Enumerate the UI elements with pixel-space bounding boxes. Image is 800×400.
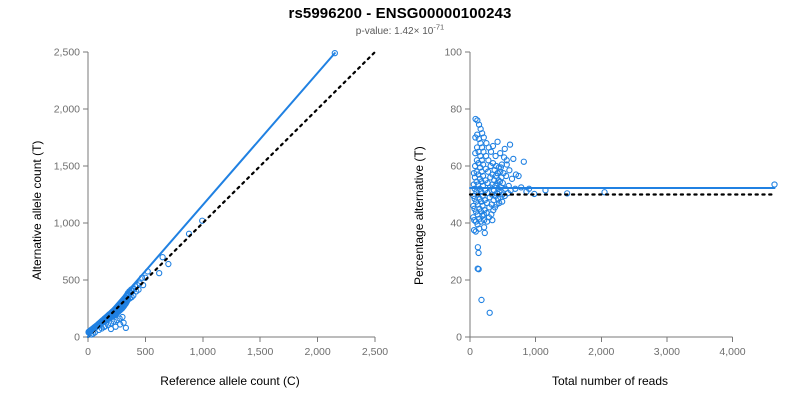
data-point-group [471, 116, 777, 315]
x-tick-label: 1,000 [522, 346, 548, 358]
data-point [166, 261, 171, 266]
reference-line [88, 52, 375, 337]
y-tick-label: 0 [74, 332, 80, 344]
y-tick-label: 2,000 [54, 104, 80, 116]
data-point [521, 159, 526, 164]
data-point [157, 271, 162, 276]
figure-root: rs5996200 - ENSG00000100243 p-value: 1.4… [0, 0, 800, 400]
y-axis-title-left: Alternative allele count (T) [30, 141, 44, 280]
x-tick-label: 500 [137, 346, 155, 358]
y-axis-title-right: Percentage alternative (T) [412, 146, 426, 285]
y-tick-label: 100 [444, 47, 462, 59]
data-point [484, 141, 489, 146]
y-tick-label: 20 [450, 275, 462, 287]
data-point [123, 325, 128, 330]
x-tick-label: 0 [85, 346, 91, 358]
data-point [495, 139, 500, 144]
fit-line [88, 53, 335, 337]
data-point [482, 230, 487, 235]
x-tick-label: 3,000 [654, 346, 680, 358]
data-point [772, 182, 777, 187]
x-tick-label: 2,000 [588, 346, 614, 358]
y-tick-label: 80 [450, 104, 462, 116]
x-tick-label: 0 [467, 346, 473, 358]
data-point [502, 146, 507, 151]
y-tick-label: 40 [450, 218, 462, 230]
data-point [487, 310, 492, 315]
data-point [160, 255, 165, 260]
y-tick-label: 60 [450, 161, 462, 173]
data-point [498, 151, 503, 156]
x-tick-label: 2,000 [304, 346, 330, 358]
data-point [490, 218, 495, 223]
data-point [482, 225, 487, 230]
y-tick-label: 1,000 [54, 218, 80, 230]
percentage-alternative-plot: 02040608010001,0002,0003,0004,000 [400, 0, 800, 400]
data-point [507, 142, 512, 147]
y-tick-label: 0 [456, 332, 462, 344]
allele-count-plot: 05001,0001,5002,0002,50005001,0001,5002,… [0, 0, 400, 400]
y-tick-label: 1,500 [54, 161, 80, 173]
y-tick-label: 2,500 [54, 47, 80, 59]
x-axis-title-left: Reference allele count (C) [60, 374, 400, 388]
data-point [479, 297, 484, 302]
x-tick-label: 2,500 [362, 346, 388, 358]
y-tick-label: 500 [62, 275, 80, 287]
x-tick-label: 4,000 [719, 346, 745, 358]
panel-percentage-alternative: 02040608010001,0002,0003,0004,000 [400, 0, 800, 400]
x-tick-label: 1,500 [247, 346, 273, 358]
data-point [511, 156, 516, 161]
data-point [509, 176, 514, 181]
data-point [507, 168, 512, 173]
data-point [476, 250, 481, 255]
panel-allele-count: 05001,0001,5002,0002,50005001,0001,5002,… [0, 0, 400, 400]
x-tick-label: 1,000 [190, 346, 216, 358]
data-point [473, 163, 478, 168]
data-point [475, 245, 480, 250]
x-axis-title-right: Total number of reads [440, 374, 780, 388]
